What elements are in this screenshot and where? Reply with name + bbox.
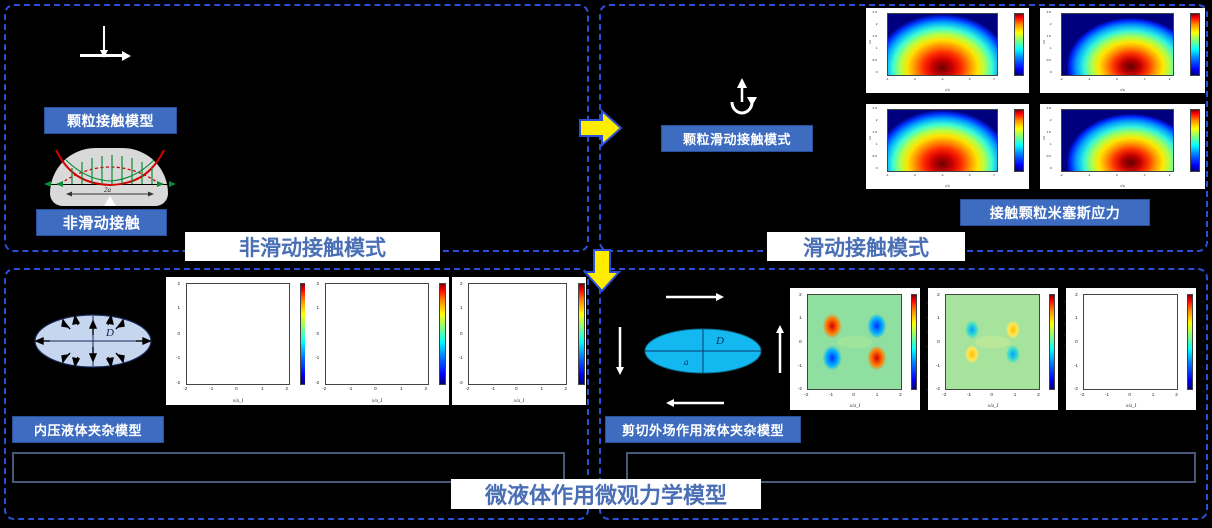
plot-colorbar [1014,13,1024,76]
plot-xlabel: x/a [866,184,1029,188]
plot-von-mises-top-right: z/a x/a 2.5 2 1.5 1 0.5 0 -2 -1 0 1 2 [1040,8,1205,93]
plot-ytick: 2 [876,119,878,122]
plot-xtick: 0 [1128,393,1131,398]
plot-colorbar [1014,109,1024,172]
plot-ytick: -2 [315,381,319,386]
plot-von-mises-bottom-left: z/a x/a 2.5 2 1.5 1 0.5 0 -3 -2 -1 0 1 [866,104,1029,189]
plot-inclusion-2: x/a_I 2 1 0 -1 -2 -2 -1 0 1 2 5 4 3 2 1 … [305,277,449,405]
plot-xlabel: x/a [1040,184,1205,188]
plot-xtick: 0 [1116,78,1118,81]
plot-ytick: 0 [876,167,878,170]
plot-xlabel: x/a_I [1066,404,1196,409]
plot-ytick: 1 [937,316,940,321]
slip-rotation-arrow [722,76,762,126]
plot-xtick: -2 [804,393,808,398]
plot-xtick: 0 [1116,174,1118,177]
plot-xtick: 0 [852,393,855,398]
plot-xtick: -1 [967,393,971,398]
plot-xlabel: x/a_I [452,399,586,404]
plot-xtick: 1 [876,393,879,398]
plot-xtick: -1 [1088,174,1091,177]
plot-xtick: 1 [1144,78,1146,81]
plot-colorbar [1190,109,1200,172]
plot-xtick: 0 [969,174,971,177]
plot-xtick: -2 [913,174,916,177]
plot-ylabel: z/a [868,136,872,140]
plot-xtick: -2 [913,78,916,81]
plot-xlabel: x/a_I [928,404,1058,409]
label-internal-pressure-model: 内压液体夹杂模型 [12,416,164,443]
plot-xtick: 2 [565,387,568,392]
colorbar-tick: 2 [1201,351,1203,355]
plot-xtick: 1 [1152,393,1155,398]
label-shear-field-model: 剪切外场作用液体夹杂模型 [605,416,801,443]
plot-ytick: 2 [937,293,940,298]
plot-von-mises-top-left: z/a x/a 2.5 2 1.5 1 0.5 0 -3 -2 -1 0 1 [866,8,1029,93]
plot-xtick: 1 [400,387,403,392]
plot-ytick: 0 [460,332,463,337]
label-von-mises-stress: 接触颗粒米塞斯应力 [960,199,1150,226]
plot-xtick: -1 [348,387,352,392]
plot-frame [186,283,290,384]
colorbar-tick: -1 [1201,389,1205,393]
plot-ytick: -1 [315,356,319,361]
plot-xtick: -1 [941,174,944,177]
plot-frame [1083,294,1178,390]
colorbar-tick: -2 [590,382,594,386]
plot-ytick: -1 [459,356,463,361]
plot-frame [325,283,429,384]
plot-ytick: 2.5 [873,107,877,110]
plot-xtick: 0 [515,387,518,392]
plot-ytick: 2 [460,282,463,287]
plot-ytick: 0 [178,332,181,337]
label-sliding-contact-mode: 颗粒滑动接触模式 [661,125,813,152]
plot-ytick: -1 [936,364,940,369]
plot-xtick: 2 [1169,174,1171,177]
plot-xtick: -1 [209,387,213,392]
plot-ytick: 0 [317,332,320,337]
plot-ytick: 2 [1050,119,1052,122]
plot-ytick: 1.5 [873,35,877,38]
plot-ytick: 1 [1050,143,1052,146]
plot-xtick: -2 [183,387,187,392]
contact-model-diagram: 2a [36,140,184,206]
plot-xtick: 1 [540,387,543,392]
plot-xtick: 2 [1169,78,1171,81]
plot-ylabel: z/a [1042,40,1046,44]
plot-colorbar [578,283,585,384]
plot-ytick: 2.5 [873,11,877,14]
plot-ytick: 1.5 [873,131,877,134]
plot-xlabel: x/a_I [166,399,310,404]
plot-xtick: -2 [322,387,326,392]
plot-frame [1061,109,1173,172]
contact-width-label: 2a [104,186,111,194]
plot-ylabel: z/a [868,40,872,44]
colorbar-tick: 3 [1201,339,1203,343]
plot-ytick: 1.5 [1047,35,1051,38]
plot-ytick: 1 [1075,316,1078,321]
plot-ytick: -2 [1074,387,1078,392]
plot-xtick: -1 [1088,78,1091,81]
plot-xtick: -2 [1060,174,1063,177]
banner-sliding-mode: 滑动接触模式 [767,232,965,261]
plot-ytick: -2 [936,387,940,392]
plot-ytick: 1 [799,316,802,321]
plot-xtick: 2 [425,387,428,392]
plot-xtick: -2 [942,393,946,398]
plot-ylabel: z/a [1042,136,1046,140]
plot-ytick: 2 [1050,23,1052,26]
plot-xtick: 2 [1037,393,1040,398]
label-particle-contact-model: 颗粒接触模型 [44,107,177,134]
plot-ytick: 0 [1050,167,1052,170]
plot-ytick: 0 [1050,71,1052,74]
plot-colorbar [911,294,918,390]
plot-xtick: -2 [465,387,469,392]
plot-ytick: 1 [460,306,463,311]
colorbar-tick: 0 [590,342,592,346]
plot-ytick: 0.5 [1047,155,1051,158]
plot-colorbar [1049,294,1056,390]
plot-xlabel: x/a [1040,88,1205,92]
plot-xtick: 0 [990,393,993,398]
plot-ytick: 2 [1075,293,1078,298]
plot-ytick: -1 [176,356,180,361]
plot-von-mises-bottom-right: z/a x/a 2.5 2 1.5 1 0.5 0 -2 -1 0 1 2 [1040,104,1205,189]
plot-ytick: 0 [876,71,878,74]
plot-frame [887,13,998,76]
plot-colorbar [1187,294,1194,390]
plot-xtick: -1 [491,387,495,392]
plot-inclusion-1: x/a_I 2 1 0 -1 -2 -2 -1 0 1 2 0.5 0 -0.5… [166,277,310,405]
plot-xtick: -2 [1080,393,1084,398]
figure-root: 颗粒接触模型 [0,0,1212,528]
plot-shear-1: x/a_I 2 1 0 -1 -2 -2 -1 0 1 2 6 4 2 0 -2… [790,288,920,410]
plot-xlabel: x/a_I [305,399,449,404]
plot-xtick: -1 [1105,393,1109,398]
plot-ytick: 2 [317,282,320,287]
plot-xtick: -1 [941,78,944,81]
colorbar-tick: 2 [590,295,592,299]
inclusion-major-label: D [716,335,724,347]
plot-colorbar [1190,13,1200,76]
plot-colorbar [439,283,446,384]
colorbar-tick: 0 [1201,377,1203,381]
colorbar-tick: 1 [590,319,592,323]
plot-ytick: 1.5 [1047,131,1051,134]
plot-xtick: -2 [1060,78,1063,81]
plot-inclusion-3: x/a_I 2 1 0 -1 -2 -2 -1 0 1 2 2 1 0 -1 -… [452,277,586,405]
plot-ytick: 2.5 [1047,107,1051,110]
plot-frame [945,294,1040,390]
plot-shear-3: x/a_I 2 1 0 -1 -2 -2 -1 0 1 2 6 5 4 3 2 … [1066,288,1196,410]
plot-xlabel: x/a [866,88,1029,92]
plot-frame [887,109,998,172]
plot-xlabel: x/a_I [790,404,920,409]
plot-ytick: 1 [876,143,878,146]
colorbar-tick: 6 [1201,300,1203,304]
plot-xtick: 2 [1175,393,1178,398]
plot-ytick: 1 [876,47,878,50]
plot-ytick: 0.5 [1047,59,1051,62]
plot-ytick: -2 [176,381,180,386]
plot-ytick: -1 [1074,364,1078,369]
plot-ytick: 2 [178,282,181,287]
plot-ytick: 0.5 [873,155,877,158]
colorbar-tick: -1 [590,364,594,368]
colorbar-tick: 1 [1201,365,1203,369]
plot-xtick: 0 [235,387,238,392]
label-non-sliding-contact: 非滑动接触 [36,209,167,236]
plot-ytick: 1 [317,306,320,311]
plot-xtick: 0 [374,387,377,392]
plot-frame [807,294,902,390]
plot-frame [1061,13,1173,76]
plot-xtick: 1 [1144,174,1146,177]
flow-arrow-right [578,108,624,148]
plot-ytick: -1 [798,364,802,369]
plot-ytick: 2 [799,293,802,298]
plot-shear-2: x/a_I 2 1 0 -1 -2 -2 -1 0 1 2 4 3 2 1 0 … [928,288,1058,410]
plot-xtick: -3 [886,174,889,177]
shear-inclusion-diagram: D a [608,285,790,415]
plot-ytick: -2 [459,381,463,386]
plot-xtick: -3 [886,78,889,81]
plot-xtick: 2 [286,387,289,392]
plot-xtick: 1 [261,387,264,392]
plot-ytick: 1 [178,306,181,311]
plot-ytick: 0 [799,340,802,345]
plot-ytick: 2.5 [1047,11,1051,14]
plot-xtick: 1 [993,174,995,177]
plot-ytick: -2 [798,387,802,392]
plot-xtick: 0 [969,78,971,81]
internal-pressure-inclusion-diagram: D [30,305,156,377]
plot-xtick: 1 [1014,393,1017,398]
colorbar-tick: 5 [1201,314,1203,318]
inclusion-major-label: D [106,327,114,339]
plot-frame [468,283,567,384]
banner-non-sliding-mode: 非滑动接触模式 [185,232,440,261]
plot-ytick: 1 [1050,47,1052,50]
plot-ytick: 0 [1075,340,1078,345]
banner-microfluid-micromechanics-model: 微液体作用微观力学模型 [451,479,761,509]
plot-xtick: 1 [993,78,995,81]
plot-ytick: 2 [876,23,878,26]
plot-ytick: 0 [937,340,940,345]
plot-xtick: -1 [829,393,833,398]
inclusion-minor-label: a [684,357,689,367]
plot-ytick: 0.5 [873,59,877,62]
plot-xtick: 2 [899,393,902,398]
colorbar-tick: 4 [1201,326,1203,330]
